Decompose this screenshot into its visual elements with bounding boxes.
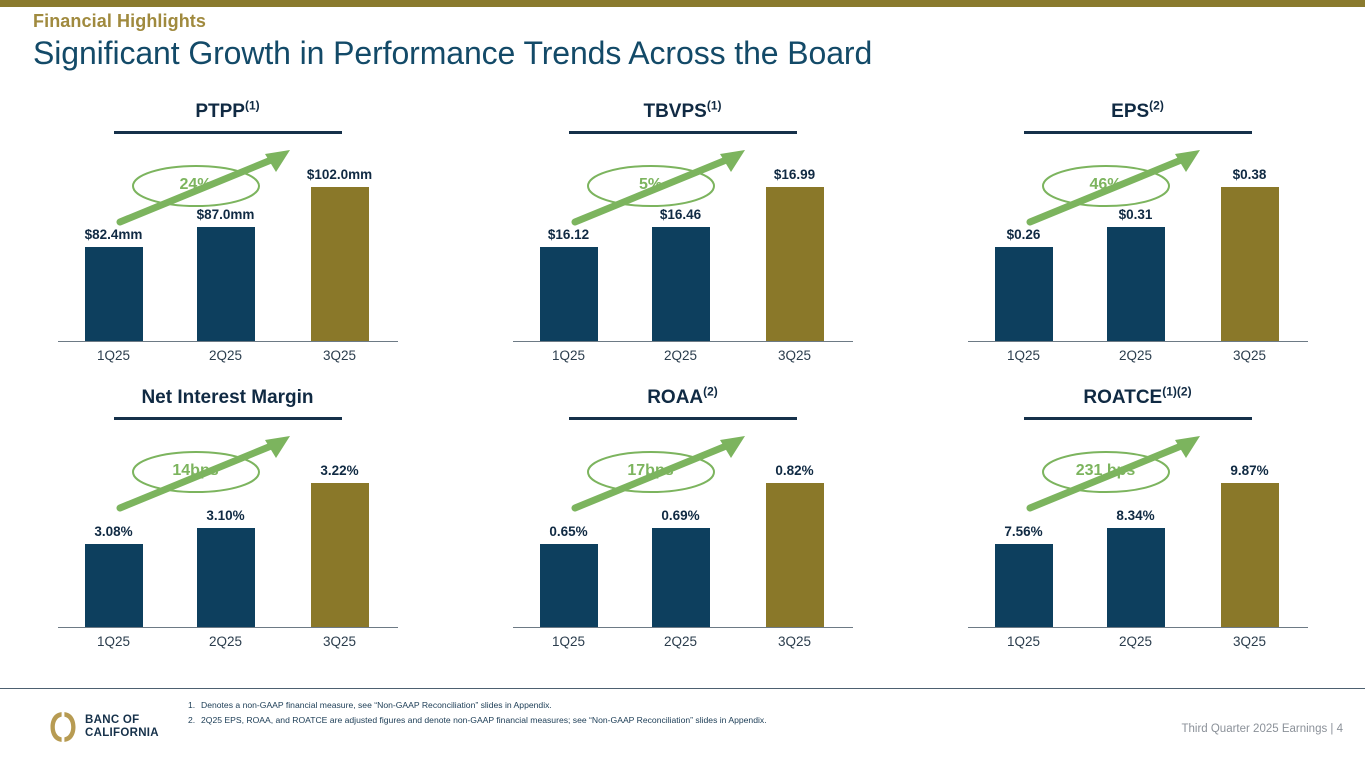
bar-value-label: 8.34%: [1086, 508, 1186, 524]
bar-group-2q25: 8.34%: [1086, 508, 1186, 628]
chart-net-interest-margin: Net Interest Margin 14bps 3.08%: [0, 386, 455, 650]
bar-value-label: $16.12: [519, 227, 619, 243]
bars: 3.08% 3.10% 3.22%: [58, 428, 398, 628]
x-tick-label: 2Q25: [176, 634, 276, 649]
plot-area: 46% $0.26 $0.31 $0.38: [968, 142, 1308, 342]
title-underline: [114, 131, 342, 134]
footnote-item: 2. 2Q25 EPS, ROAA, and ROATCE are adjust…: [188, 713, 1088, 728]
bar-group-3q25: $102.0mm: [290, 167, 390, 342]
x-tick-label: 2Q25: [1086, 348, 1186, 363]
x-axis-labels: 1Q25 2Q25 3Q25: [58, 342, 398, 364]
title-underline: [569, 131, 797, 134]
bar: [540, 247, 598, 342]
x-tick-label: 3Q25: [745, 348, 845, 363]
title-underline: [569, 417, 797, 420]
bar-value-label: $102.0mm: [290, 167, 390, 183]
bar-value-label: 7.56%: [974, 524, 1074, 540]
x-tick-label: 3Q25: [745, 634, 845, 649]
title-underline: [114, 417, 342, 420]
slide-header: Financial Highlights Significant Growth …: [33, 11, 872, 73]
x-axis-labels: 1Q25 2Q25 3Q25: [968, 342, 1308, 364]
x-tick-label: 3Q25: [290, 348, 390, 363]
footnotes: 1. Denotes a non-GAAP financial measure,…: [188, 698, 1088, 728]
x-tick-label: 1Q25: [64, 348, 164, 363]
bar: [311, 187, 369, 342]
bar-group-1q25: $82.4mm: [64, 227, 164, 342]
x-tick-label: 2Q25: [1086, 634, 1186, 649]
x-axis-labels: 1Q25 2Q25 3Q25: [513, 342, 853, 364]
bar: [995, 544, 1053, 628]
chart-title-text: ROATCE: [1083, 387, 1162, 408]
bar-value-label: 3.10%: [176, 508, 276, 524]
banc-of-california-ring-icon: [48, 710, 78, 744]
chart-title-superscript: (1): [707, 99, 722, 113]
bar-group-1q25: 3.08%: [64, 524, 164, 628]
chart-title-superscript: (2): [1149, 99, 1164, 113]
bar-group-2q25: $16.46: [631, 207, 731, 342]
bar: [995, 247, 1053, 342]
x-axis-labels: 1Q25 2Q25 3Q25: [58, 628, 398, 650]
bar: [766, 483, 824, 628]
footnote-number: 2.: [188, 713, 201, 728]
chart-title: TBVPS(1): [455, 100, 910, 124]
x-tick-label: 2Q25: [631, 634, 731, 649]
plot-area: 231 bps 7.56% 8.34% 9.87%: [968, 428, 1308, 628]
bar-value-label: 0.69%: [631, 508, 731, 524]
footer-divider: [0, 688, 1365, 689]
chart-title: PTPP(1): [0, 100, 455, 124]
logo-wordmark: BANC OF CALIFORNIA: [85, 714, 159, 741]
bar-value-label: 3.08%: [64, 524, 164, 540]
page-title: Significant Growth in Performance Trends…: [33, 33, 872, 73]
bars: 7.56% 8.34% 9.87%: [968, 428, 1308, 628]
bar: [1107, 227, 1165, 342]
bar-value-label: 9.87%: [1200, 463, 1300, 479]
plot-area: 5% $16.12 $16.46 $16.99: [513, 142, 853, 342]
bar-value-label: $0.38: [1200, 167, 1300, 183]
bar-group-3q25: $0.38: [1200, 167, 1300, 342]
x-tick-label: 2Q25: [176, 348, 276, 363]
bar-group-3q25: $16.99: [745, 167, 845, 342]
logo-line-1: BANC OF: [85, 714, 159, 728]
chart-title-text: ROAA: [647, 387, 703, 408]
eyebrow-label: Financial Highlights: [33, 11, 872, 32]
bar-group-1q25: 7.56%: [974, 524, 1074, 628]
bar-group-2q25: 3.10%: [176, 508, 276, 628]
logo-line-2: CALIFORNIA: [85, 727, 159, 741]
x-tick-label: 3Q25: [1200, 348, 1300, 363]
bar: [1107, 528, 1165, 628]
bar-value-label: 0.65%: [519, 524, 619, 540]
bar-value-label: $0.31: [1086, 207, 1186, 223]
bars: $82.4mm $87.0mm $102.0mm: [58, 142, 398, 342]
bar-value-label: $16.99: [745, 167, 845, 183]
bar-group-2q25: $0.31: [1086, 207, 1186, 342]
bar: [652, 528, 710, 628]
chart-grid: PTPP(1) 24% $82.4mm: [0, 100, 1365, 650]
plot-area: 24% $82.4mm $87.0mm $102.0mm: [58, 142, 398, 342]
plot-area: 17bps 0.65% 0.69% 0.82%: [513, 428, 853, 628]
footer-deck-label: Third Quarter 2025 Earnings | 4: [1181, 723, 1343, 735]
title-underline: [1024, 417, 1252, 420]
bar: [85, 544, 143, 628]
chart-title-text: TBVPS: [643, 101, 706, 122]
bar: [1221, 483, 1279, 628]
bar: [766, 187, 824, 342]
chart-title-superscript: (1): [245, 99, 260, 113]
chart-row-top: PTPP(1) 24% $82.4mm: [0, 100, 1365, 364]
chart-title-superscript: (2): [703, 385, 718, 399]
bar-group-1q25: 0.65%: [519, 524, 619, 628]
x-axis-labels: 1Q25 2Q25 3Q25: [513, 628, 853, 650]
x-tick-label: 1Q25: [519, 634, 619, 649]
plot-area: 14bps 3.08% 3.10% 3.22%: [58, 428, 398, 628]
bar-value-label: $87.0mm: [176, 207, 276, 223]
footnote-text: Denotes a non-GAAP financial measure, se…: [201, 698, 552, 713]
chart-title-superscript: (1)(2): [1162, 385, 1191, 399]
x-axis-labels: 1Q25 2Q25 3Q25: [968, 628, 1308, 650]
bar: [197, 227, 255, 342]
company-logo: BANC OF CALIFORNIA: [48, 710, 159, 744]
bar: [85, 247, 143, 342]
bar: [540, 544, 598, 628]
footnote-text: 2Q25 EPS, ROAA, and ROATCE are adjusted …: [201, 713, 767, 728]
bar-group-3q25: 3.22%: [290, 463, 390, 628]
footnote-item: 1. Denotes a non-GAAP financial measure,…: [188, 698, 1088, 713]
bar-group-1q25: $16.12: [519, 227, 619, 342]
chart-title: Net Interest Margin: [0, 386, 455, 410]
bar-group-2q25: $87.0mm: [176, 207, 276, 342]
x-tick-label: 3Q25: [1200, 634, 1300, 649]
chart-row-bottom: Net Interest Margin 14bps 3.08%: [0, 386, 1365, 650]
bars: $16.12 $16.46 $16.99: [513, 142, 853, 342]
bar: [197, 528, 255, 628]
chart-eps: EPS(2) 46% $0.26 $: [910, 100, 1365, 364]
bar-value-label: 0.82%: [745, 463, 845, 479]
chart-title-text: EPS: [1111, 101, 1149, 122]
footnote-number: 1.: [188, 698, 201, 713]
x-tick-label: 1Q25: [519, 348, 619, 363]
bars: 0.65% 0.69% 0.82%: [513, 428, 853, 628]
title-underline: [1024, 131, 1252, 134]
bar-value-label: $82.4mm: [64, 227, 164, 243]
bar-group-3q25: 9.87%: [1200, 463, 1300, 628]
bar: [1221, 187, 1279, 342]
x-tick-label: 1Q25: [974, 348, 1074, 363]
bar-value-label: $0.26: [974, 227, 1074, 243]
chart-title: EPS(2): [910, 100, 1365, 124]
x-tick-label: 2Q25: [631, 348, 731, 363]
bar-value-label: 3.22%: [290, 463, 390, 479]
bar: [311, 483, 369, 628]
chart-ptpp: PTPP(1) 24% $82.4mm: [0, 100, 455, 364]
chart-title: ROATCE(1)(2): [910, 386, 1365, 410]
x-tick-label: 3Q25: [290, 634, 390, 649]
bar-value-label: $16.46: [631, 207, 731, 223]
x-tick-label: 1Q25: [64, 634, 164, 649]
top-accent-bar: [0, 0, 1365, 7]
bar-group-2q25: 0.69%: [631, 508, 731, 628]
chart-title-text: Net Interest Margin: [141, 387, 313, 408]
chart-title: ROAA(2): [455, 386, 910, 410]
bar-group-1q25: $0.26: [974, 227, 1074, 342]
chart-tbvps: TBVPS(1) 5% $16.12: [455, 100, 910, 364]
bars: $0.26 $0.31 $0.38: [968, 142, 1308, 342]
chart-roaa: ROAA(2) 17bps 0.65%: [455, 386, 910, 650]
chart-title-text: PTPP: [195, 101, 245, 122]
chart-roatce: ROATCE(1)(2) 231 bps 7.56%: [910, 386, 1365, 650]
bar: [652, 227, 710, 342]
bar-group-3q25: 0.82%: [745, 463, 845, 628]
x-tick-label: 1Q25: [974, 634, 1074, 649]
